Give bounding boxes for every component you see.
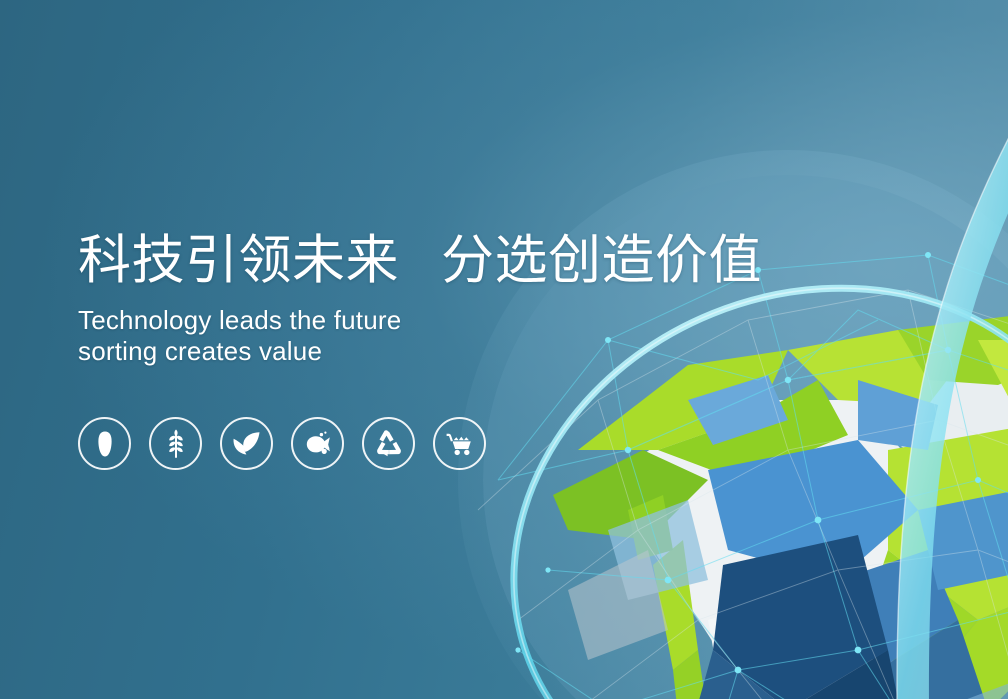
subtitle-line-2: sorting creates value	[78, 336, 762, 367]
hero-copy: 科技引领未来 分选创造价值 Technology leads the futur…	[78, 232, 762, 368]
page-title: 科技引领未来 分选创造价值	[78, 232, 762, 289]
recycle-icon	[375, 430, 403, 458]
industry-icon-recycle[interactable]	[362, 417, 415, 470]
ribbon-arc	[897, 120, 1008, 699]
tea-leaf-icon	[232, 431, 262, 457]
wheat-icon	[163, 429, 189, 459]
industry-icon-fish[interactable]	[291, 417, 344, 470]
industry-icon-grain-seed[interactable]	[78, 417, 131, 470]
headline-phrase-1: 科技引领未来	[78, 232, 399, 289]
industry-icon-row	[78, 417, 486, 470]
subtitle: Technology leads the future sorting crea…	[78, 305, 762, 367]
hero-banner: 科技引领未来 分选创造价值 Technology leads the futur…	[0, 0, 1008, 699]
industry-icon-wheat[interactable]	[149, 417, 202, 470]
fish-icon	[303, 431, 333, 457]
grain-seed-icon	[92, 430, 118, 458]
industry-icon-mining-cart[interactable]	[433, 417, 486, 470]
industry-icon-tea-leaf[interactable]	[220, 417, 273, 470]
mining-cart-icon	[445, 431, 475, 457]
headline-phrase-2: 分选创造价值	[441, 232, 762, 289]
subtitle-line-1: Technology leads the future	[78, 305, 762, 336]
